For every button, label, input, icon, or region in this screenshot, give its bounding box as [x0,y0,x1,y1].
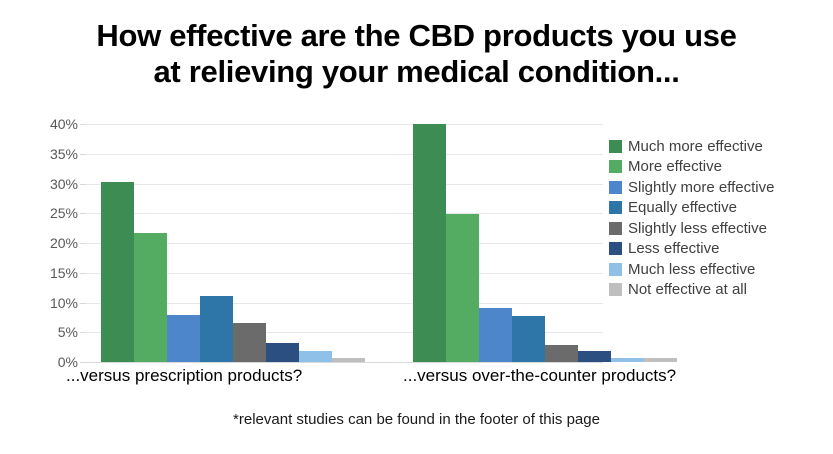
legend-item[interactable]: Equally effective [609,198,829,219]
y-axis-tickmark [80,184,86,185]
y-axis-tick-label: 20% [18,236,78,250]
bar [446,214,479,362]
title-line-2: at relieving your medical condition... [0,54,833,90]
bar [545,345,578,362]
bar [101,182,134,362]
page-title: How effective are the CBD products you u… [0,18,833,90]
y-axis-tickmark [80,332,86,333]
legend-item[interactable]: Slightly less effective [609,218,829,239]
legend-swatch-icon [609,242,622,255]
legend-swatch-icon [609,201,622,214]
y-axis-tick-label: 30% [18,177,78,191]
bar [479,308,512,362]
legend-item[interactable]: Not effective at all [609,280,829,301]
legend-swatch-icon [609,181,622,194]
legend-label: Less effective [628,241,719,256]
bar [413,124,446,362]
bar [332,358,365,362]
y-axis-tick-label: 25% [18,206,78,220]
legend-swatch-icon [609,140,622,153]
y-axis-tick-label: 10% [18,296,78,310]
bar [266,343,299,362]
legend-swatch-icon [609,160,622,173]
legend-label: Slightly less effective [628,221,767,236]
y-axis-tickmark [80,303,86,304]
title-line-1: How effective are the CBD products you u… [96,18,736,53]
y-axis-tick-label: 15% [18,266,78,280]
legend-label: Not effective at all [628,282,747,297]
legend-swatch-icon [609,263,622,276]
category-label-0: ...versus prescription products? [66,366,302,386]
bar [644,358,677,362]
bar [299,351,332,362]
legend-swatch-icon [609,222,622,235]
y-axis-tickmark [80,124,86,125]
y-axis-labels: 0%5%10%15%20%25%30%35%40% [18,113,78,373]
footnote: *relevant studies can be found in the fo… [0,411,833,428]
legend-swatch-icon [609,283,622,296]
legend-label: Slightly more effective [628,180,774,195]
legend-item[interactable]: Much less effective [609,259,829,280]
category-label-1: ...versus over-the-counter products? [403,366,676,386]
y-axis-tickmark [80,362,86,363]
bar [167,315,200,362]
y-axis-tickmark [80,243,86,244]
bar [578,351,611,362]
legend-item[interactable]: More effective [609,157,829,178]
bar [611,358,644,362]
legend-item[interactable]: Much more effective [609,136,829,157]
gridline [86,362,603,363]
y-axis-tick-label: 5% [18,325,78,339]
y-axis-tickmark [80,154,86,155]
bar [512,316,545,362]
y-axis-tick-label: 35% [18,147,78,161]
chart-page: How effective are the CBD products you u… [0,0,833,454]
y-axis-tickmark [80,213,86,214]
legend-label: Equally effective [628,200,737,215]
bar-group [101,124,365,362]
legend-item[interactable]: Slightly more effective [609,177,829,198]
bar [200,296,233,362]
legend-label: Much more effective [628,139,763,154]
legend-item[interactable]: Less effective [609,239,829,260]
legend-label: More effective [628,159,722,174]
y-axis-tick-label: 40% [18,117,78,131]
bar [233,323,266,362]
bar [134,233,167,362]
y-axis-tickmark [80,273,86,274]
chart-legend: Much more effectiveMore effectiveSlightl… [609,136,829,300]
legend-label: Much less effective [628,262,755,277]
plot-area [86,124,603,362]
